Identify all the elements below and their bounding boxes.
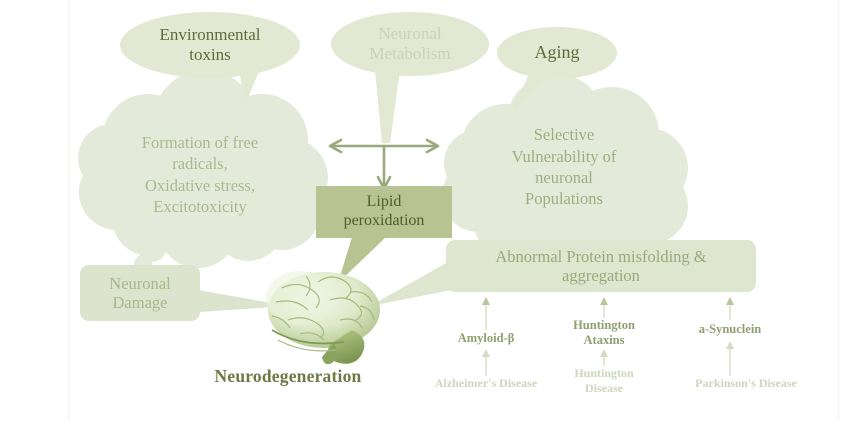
bubble-neuronal-metabolism-line1: Neuronal bbox=[369, 24, 450, 44]
box-neuronal-damage-line2: Damage bbox=[109, 293, 170, 312]
label-alzheimers-disease-line1: Alzheimer's Disease bbox=[406, 376, 566, 391]
label-amyloid-beta-line1: Amyloid-β bbox=[436, 331, 536, 346]
cloud-free-radicals-text: Formation of free radicals, Oxidative st… bbox=[96, 122, 304, 227]
label-huntington-disease-line1: Huntington bbox=[554, 366, 654, 381]
box-abnormal-protein-line2: aggregation bbox=[495, 266, 706, 285]
box-lipid-peroxidation-line1: Lipid bbox=[344, 193, 425, 212]
cloud-free-radicals-line4: Excitotoxicity bbox=[142, 196, 258, 217]
box-lipid-peroxidation[interactable]: Lipid peroxidation bbox=[316, 186, 452, 238]
bubble-aging-label: Aging bbox=[535, 42, 580, 63]
box-abnormal-protein-line1: Abnormal Protein misfolding & bbox=[495, 247, 706, 266]
box-lipid-peroxidation-line2: peroxidation bbox=[344, 212, 425, 231]
cloud-selective-line2: Vulnerability of bbox=[512, 146, 617, 167]
label-huntington-ataxins: Huntington Ataxins bbox=[554, 318, 654, 348]
label-huntington-ataxins-line1: Huntington bbox=[554, 318, 654, 333]
label-amyloid-beta: Amyloid-β bbox=[436, 331, 536, 346]
label-huntington-ataxins-line2: Ataxins bbox=[554, 333, 654, 348]
cloud-free-radicals-line3: Oxidative stress, bbox=[142, 175, 258, 196]
label-alzheimers-disease: Alzheimer's Disease bbox=[406, 376, 566, 391]
bubble-environmental-toxins-line1: Environmental bbox=[159, 25, 260, 45]
bubble-neuronal-metabolism[interactable]: Neuronal Metabolism bbox=[331, 12, 489, 76]
bubble-neuronal-metabolism-line2: Metabolism bbox=[369, 44, 450, 64]
cloud-selective-vulnerability-text: Selective Vulnerability of neuronal Popu… bbox=[466, 112, 662, 222]
box-abnormal-protein[interactable]: Abnormal Protein misfolding & aggregatio… bbox=[446, 240, 756, 292]
cloud-free-radicals-line2: radicals, bbox=[142, 153, 258, 174]
diagram-canvas: Environmental toxins Neuronal Metabolism… bbox=[0, 0, 852, 421]
label-parkinsons-disease: Parkinson's Disease bbox=[666, 376, 826, 391]
label-alpha-synuclein-line1: a-Synuclein bbox=[680, 322, 780, 337]
bubble-environmental-toxins-line2: toxins bbox=[159, 45, 260, 65]
vertical-arrow-to-lipid bbox=[378, 146, 390, 189]
label-huntington-disease: Huntington Disease bbox=[554, 366, 654, 396]
bubble-environmental-toxins[interactable]: Environmental toxins bbox=[120, 12, 300, 78]
neuronal-metabolism-tail bbox=[375, 70, 400, 143]
cloud-free-radicals-line1: Formation of free bbox=[142, 132, 258, 153]
caption-neurodegeneration: Neurodegeneration bbox=[198, 366, 378, 387]
label-parkinsons-disease-line1: Parkinson's Disease bbox=[666, 376, 826, 391]
cloud-selective-line4: Populations bbox=[512, 188, 617, 209]
cloud-selective-line1: Selective bbox=[512, 124, 617, 145]
box-neuronal-damage[interactable]: Neuronal Damage bbox=[80, 265, 200, 321]
bubble-aging[interactable]: Aging bbox=[497, 27, 617, 79]
box-neuronal-damage-line1: Neuronal bbox=[109, 274, 170, 293]
brain-illustration bbox=[266, 271, 380, 364]
label-alpha-synuclein: a-Synuclein bbox=[680, 322, 780, 337]
cloud-selective-line3: neuronal bbox=[512, 167, 617, 188]
label-huntington-disease-line2: Disease bbox=[554, 381, 654, 396]
